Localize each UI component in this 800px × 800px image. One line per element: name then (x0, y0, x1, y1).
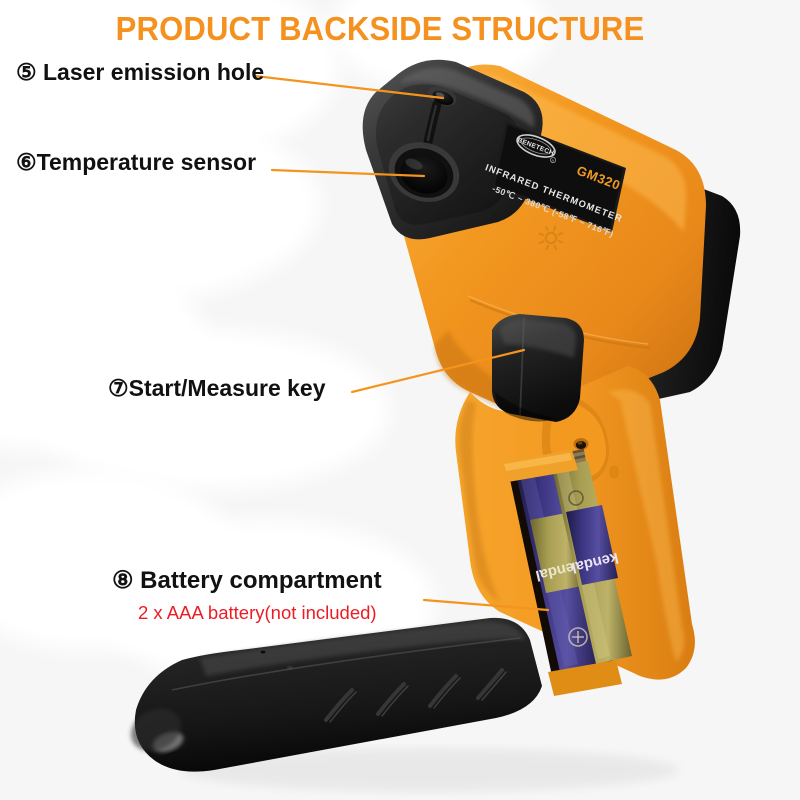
leader-line-7 (352, 350, 524, 392)
battery-note: 2 x AAA battery(not included) (138, 602, 377, 624)
page-title: PRODUCT BACKSIDE STRUCTURE (23, 10, 737, 48)
leader-line-8 (424, 600, 548, 610)
callout-label-start-measure-key: ⑦Start/Measure key (108, 376, 326, 402)
leader-line-6 (272, 170, 424, 176)
leader-line-5 (255, 76, 443, 98)
callout-label-temperature-sensor: ⑥Temperature sensor (16, 150, 256, 176)
infographic-canvas: BENETECH R GM320 INFRARED THERMOMETER -5… (0, 0, 800, 800)
callout-label-battery-compartment: ⑧ Battery compartment (112, 568, 382, 595)
callout-label-laser-emission-hole: ⑤ Laser emission hole (16, 60, 264, 86)
